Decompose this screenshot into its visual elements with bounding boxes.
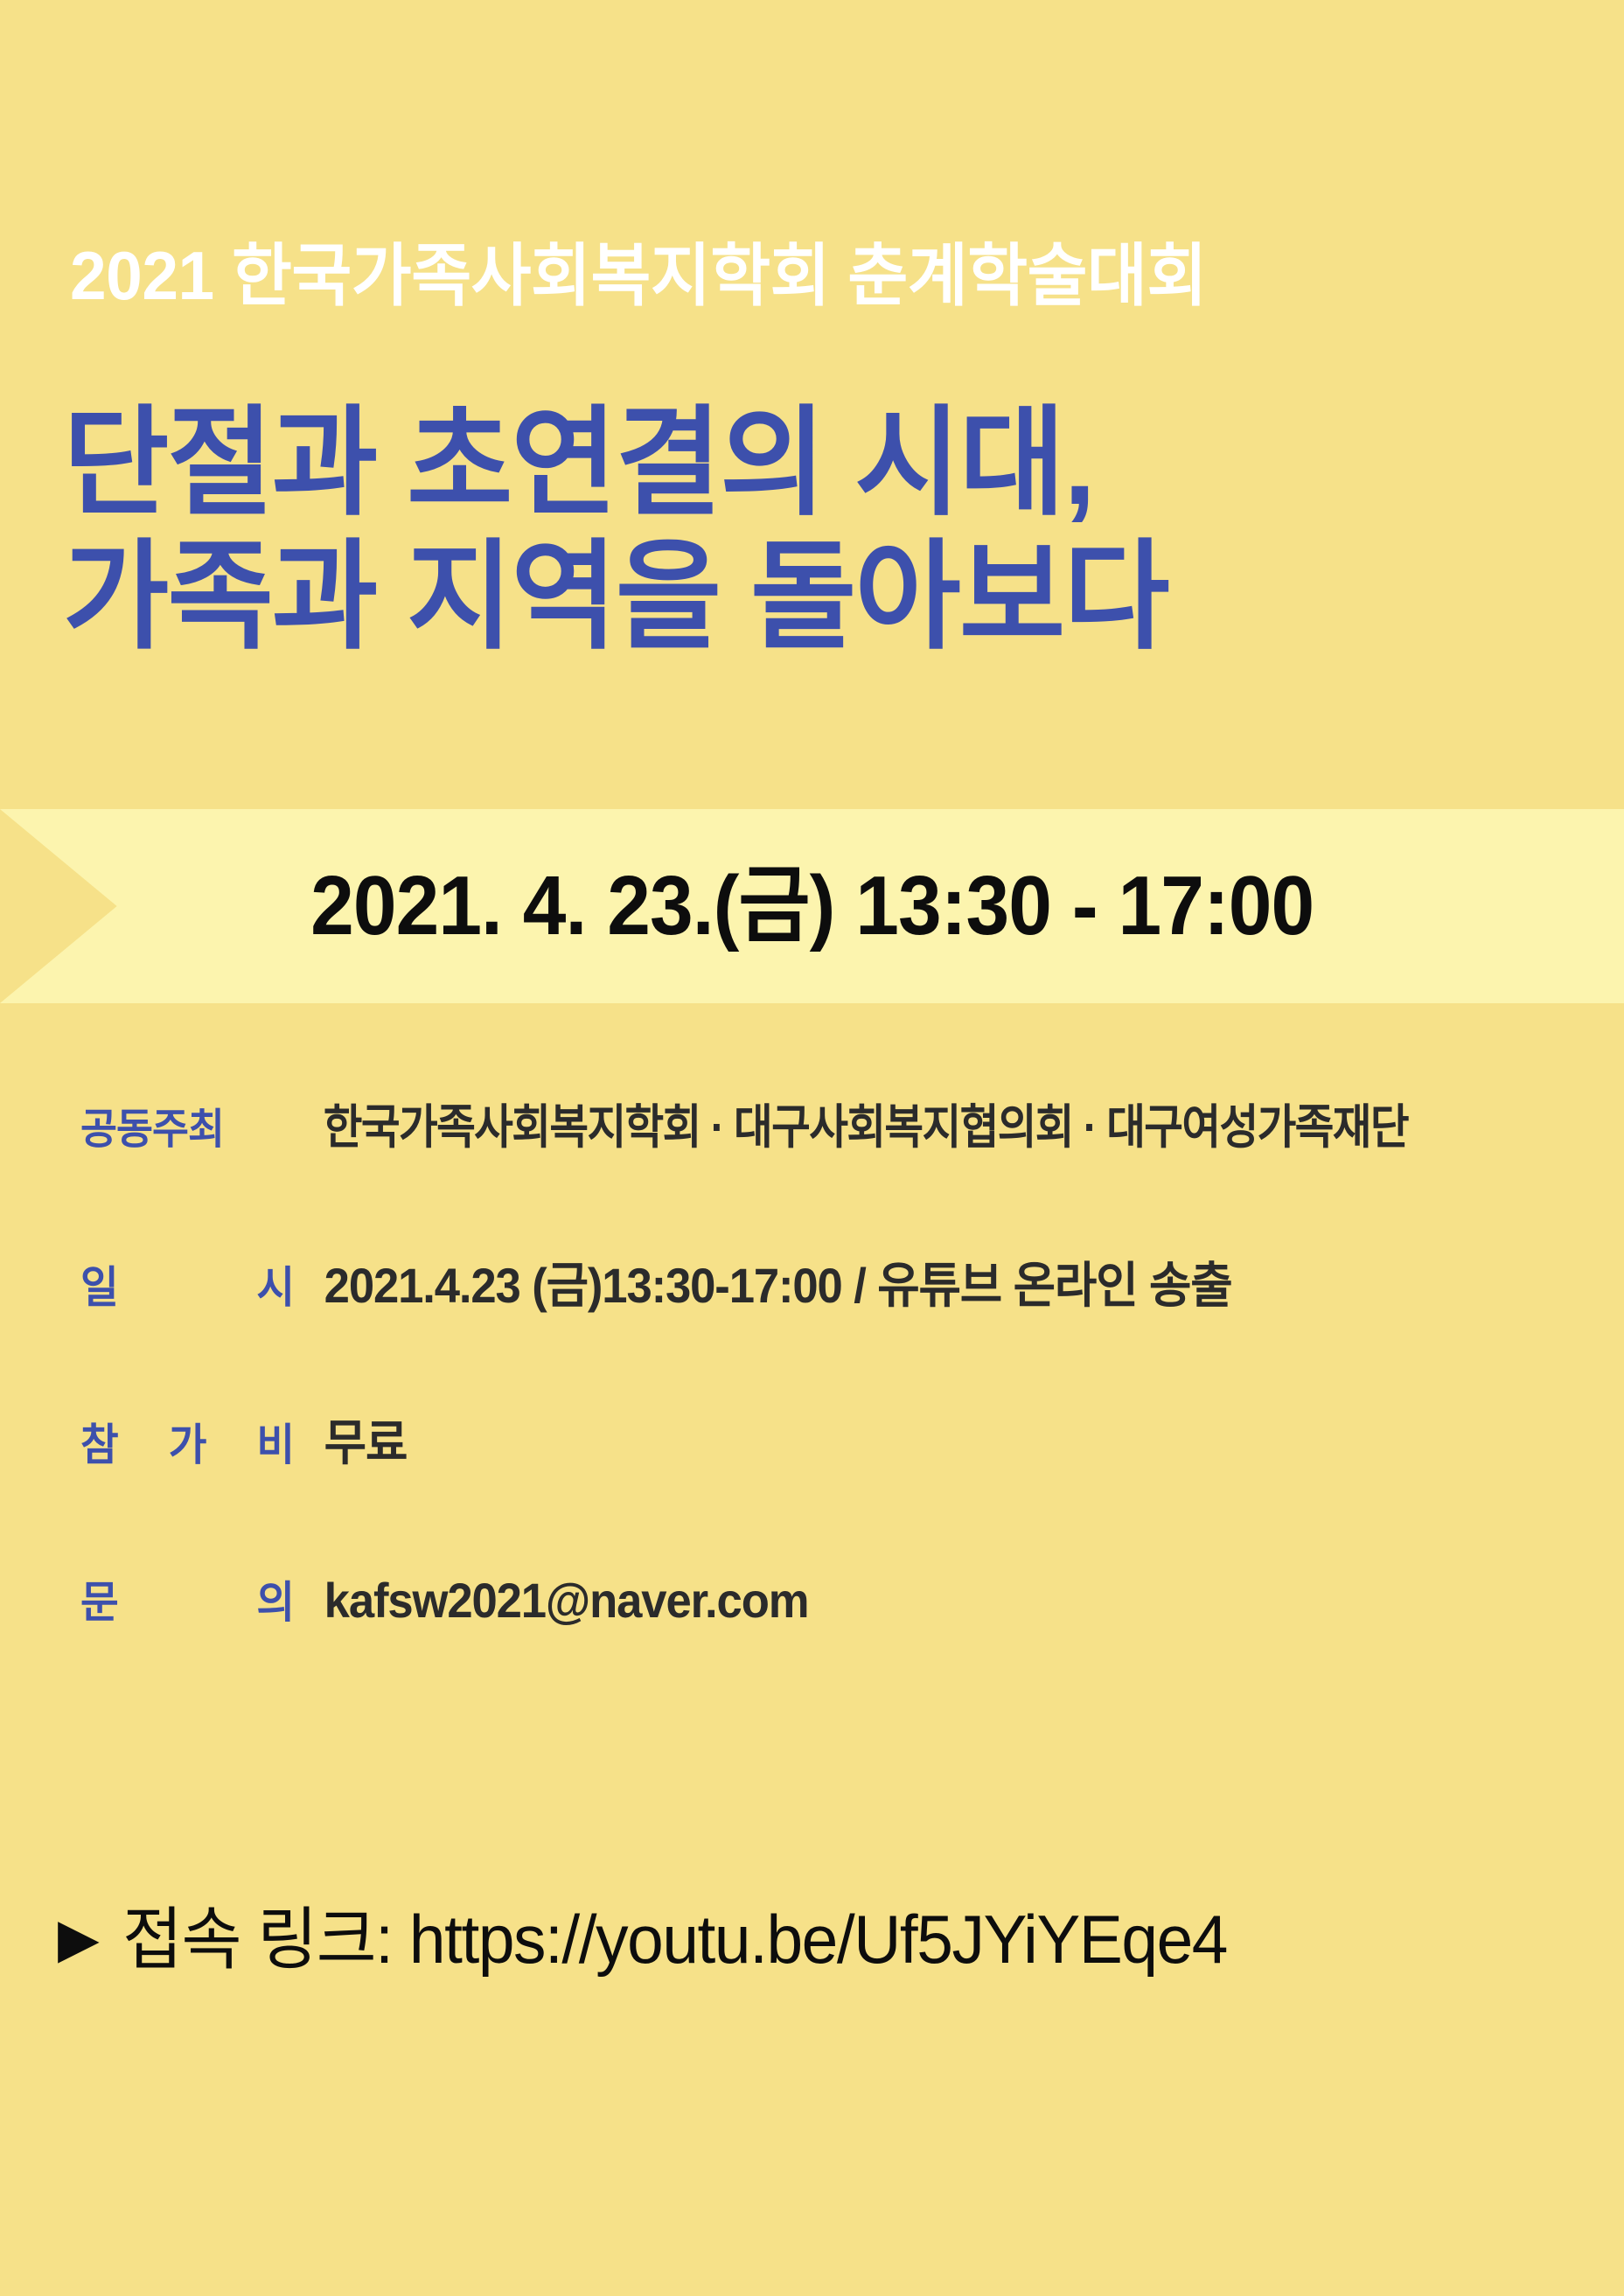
poster-canvas: 2021 한국가족사회복지학회 춘계학술대회 단절과 초연결의 시대, 가족과 … xyxy=(0,0,1624,2296)
poster-title: 단절과 초연결의 시대, 가족과 지역을 돌아보다 xyxy=(63,402,1567,669)
info-row-datetime: 일 시 2021.4.23 (금)13:30-17:00 / 유튜브 온라인 송… xyxy=(80,1261,1602,1419)
triangle-right-icon: ▶ xyxy=(58,1912,100,1966)
info-row-contact: 문 의 kafsw2021@naver.com xyxy=(80,1576,1602,1734)
title-line-1: 단절과 초연결의 시대, xyxy=(63,402,1522,524)
info-value-contact: kafsw2021@naver.com xyxy=(306,1576,1524,1625)
info-value-organizers: 한국가족사회복지학회 · 대구사회복지협의회 · 대구여성가족재단 xyxy=(306,1104,1473,1151)
info-row-organizers: 공동주최 한국가족사회복지학회 · 대구사회복지협의회 · 대구여성가족재단 xyxy=(80,1104,1602,1261)
date-ribbon-banner: 2021. 4. 23.(금) 13:30 - 17:00 xyxy=(0,809,1624,1003)
info-value-datetime: 2021.4.23 (금)13:30-17:00 / 유튜브 온라인 송출 xyxy=(306,1261,1524,1310)
info-label-fee: 참 가 비 xyxy=(80,1423,295,1467)
eyebrow-heading: 2021 한국가족사회복지학회 춘계학술대회 xyxy=(70,241,1207,310)
info-list: 공동주최 한국가족사회복지학회 · 대구사회복지협의회 · 대구여성가족재단 일… xyxy=(80,1104,1602,1734)
info-label-contact: 문 의 xyxy=(80,1581,295,1624)
info-value-fee: 무료 xyxy=(306,1419,1524,1468)
info-label-organizers: 공동주최 xyxy=(80,1109,295,1151)
title-line-2: 가족과 지역을 돌아보다 xyxy=(63,536,1522,658)
access-link-text[interactable]: 접속 링크: https://youtu.be/Uf5JYiYEqe4 xyxy=(122,1905,1227,1973)
info-row-fee: 참 가 비 무료 xyxy=(80,1419,1602,1576)
info-label-datetime: 일 시 xyxy=(80,1266,295,1309)
date-time-text: 2021. 4. 23.(금) 13:30 - 17:00 xyxy=(310,864,1314,948)
access-link-line[interactable]: ▶ 접속 링크: https://youtu.be/Uf5JYiYEqe4 xyxy=(58,1905,1272,1973)
